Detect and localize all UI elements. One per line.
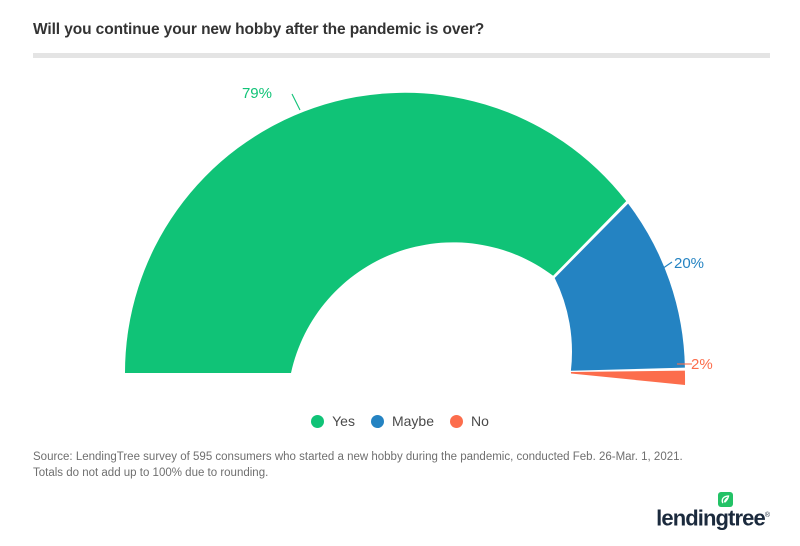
value-label-maybe: 20% [674, 255, 704, 272]
lendingtree-logo[interactable]: lendingtree® [656, 503, 770, 529]
brand-trademark: ® [765, 512, 770, 519]
legend-label-no: No [471, 413, 489, 429]
donut-chart-svg: 79% 20% 2% [0, 58, 800, 388]
brand-wordmark-text: lendingtree [656, 505, 765, 530]
legend-circle-marker-maybe [371, 415, 384, 428]
legend-item-yes[interactable]: Yes [311, 413, 355, 429]
chart-legend: Yes Maybe No [0, 409, 800, 433]
page-title: Will you continue your new hobby after t… [33, 20, 773, 40]
value-label-no: 2% [691, 356, 713, 373]
legend-item-maybe[interactable]: Maybe [371, 413, 434, 429]
chart-page: Will you continue your new hobby after t… [0, 0, 800, 546]
slice-no[interactable] [571, 371, 685, 385]
legend-circle-marker-yes [311, 415, 324, 428]
brand-wordmark-container: lendingtree® [656, 505, 770, 529]
source-note: Source: LendingTree survey of 595 consum… [33, 449, 763, 481]
legend-label-yes: Yes [332, 413, 355, 429]
source-note-line-1: Source: LendingTree survey of 595 consum… [33, 449, 763, 465]
slice-yes[interactable] [125, 93, 626, 373]
source-note-line-2: Totals do not add up to 100% due to roun… [33, 465, 763, 481]
value-label-yes: 79% [242, 85, 272, 102]
leaf-icon [718, 492, 733, 507]
legend-circle-marker-no [450, 415, 463, 428]
half-donut-chart: 79% 20% 2% [0, 58, 800, 388]
leader-line-yes [292, 94, 300, 110]
legend-label-maybe: Maybe [392, 413, 434, 429]
legend-item-no[interactable]: No [450, 413, 489, 429]
